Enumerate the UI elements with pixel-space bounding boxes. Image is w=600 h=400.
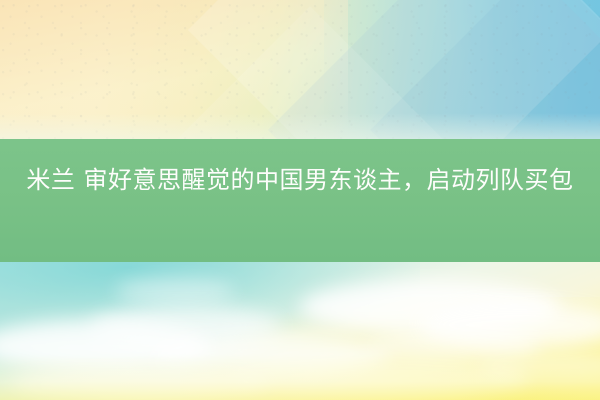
banner-image: 米兰 审好意思醒觉的中国男东谈主，启动列队买包	[0, 0, 600, 400]
top-panel-bottom-fade	[0, 113, 600, 139]
top-gradient-graphic	[0, 0, 600, 139]
sky-graphic	[0, 262, 600, 400]
sky-bottom-haze	[0, 354, 600, 400]
cloud-shape	[115, 278, 235, 304]
caption-band: 米兰 审好意思醒觉的中国男东谈主，启动列队买包	[0, 139, 600, 262]
caption-text: 米兰 审好意思醒觉的中国男东谈主，启动列队买包	[24, 161, 576, 199]
